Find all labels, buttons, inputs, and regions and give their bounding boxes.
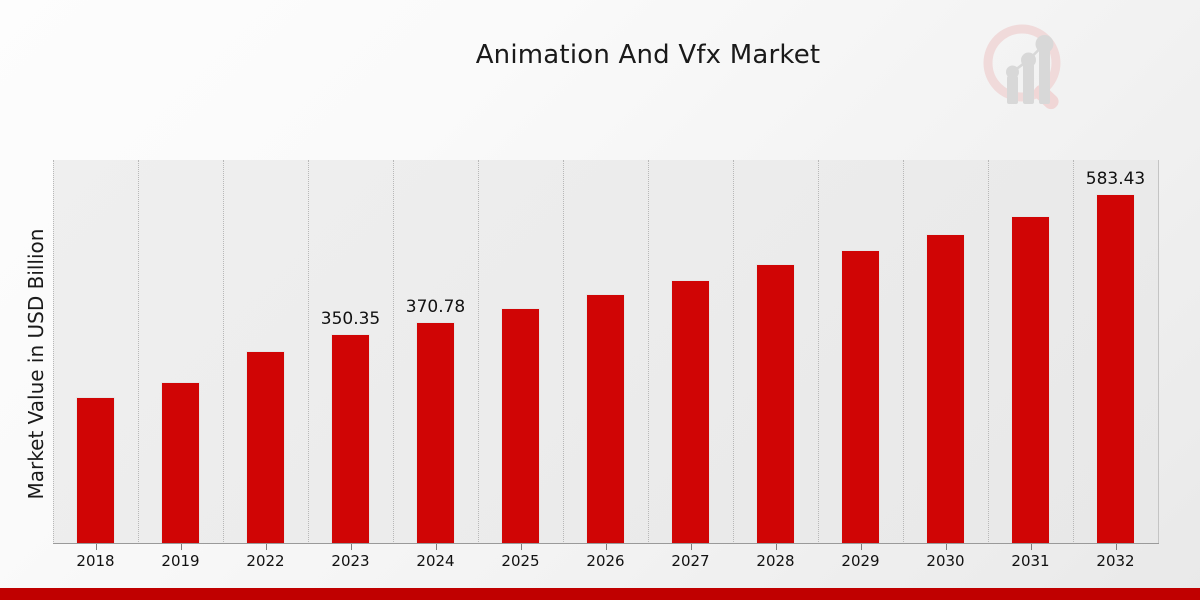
gridline [478, 160, 480, 544]
company-logo-watermark [975, 18, 1080, 123]
chart-figure: Animation And Vfx Market Market Value in… [0, 0, 1200, 600]
bar-2027[interactable] [671, 280, 710, 544]
gridline [53, 160, 55, 544]
gridline [563, 160, 565, 544]
x-tick-mark-2030 [946, 544, 947, 550]
x-tick-label-2022: 2022 [224, 552, 308, 570]
x-tick-label-2029: 2029 [819, 552, 903, 570]
bar-value-label-2024: 370.78 [391, 297, 481, 317]
x-tick-mark-2024 [436, 544, 437, 550]
x-tick-mark-2032 [1116, 544, 1117, 550]
gridline [733, 160, 735, 544]
x-tick-label-2028: 2028 [734, 552, 818, 570]
x-tick-mark-2028 [776, 544, 777, 550]
x-tick-label-2026: 2026 [564, 552, 648, 570]
bar-2032[interactable] [1096, 194, 1135, 544]
x-tick-mark-2031 [1031, 544, 1032, 550]
bar-2026[interactable] [586, 294, 625, 544]
x-tick-mark-2027 [691, 544, 692, 550]
y-axis-label: Market Value in USD Billion [24, 84, 48, 600]
bar-2030[interactable] [926, 234, 965, 544]
x-tick-label-2027: 2027 [649, 552, 733, 570]
bar-2031[interactable] [1011, 216, 1050, 544]
x-tick-mark-2022 [266, 544, 267, 550]
plot-area [53, 160, 1158, 544]
bar-2028[interactable] [756, 264, 795, 544]
gridline [223, 160, 225, 544]
gridline [818, 160, 820, 544]
x-tick-label-2024: 2024 [394, 552, 478, 570]
gridline [308, 160, 310, 544]
gridline [988, 160, 990, 544]
x-tick-mark-2018 [96, 544, 97, 550]
footer-accent-band [0, 588, 1200, 600]
x-tick-label-2023: 2023 [309, 552, 393, 570]
bar-2019[interactable] [161, 382, 200, 544]
bar-value-label-2023: 350.35 [306, 309, 396, 329]
bar-2018[interactable] [76, 397, 115, 544]
bar-2022[interactable] [246, 351, 285, 544]
gridline [1158, 160, 1160, 544]
bar-2029[interactable] [841, 250, 880, 544]
x-tick-mark-2029 [861, 544, 862, 550]
page-title: Animation And Vfx Market [0, 40, 1200, 70]
x-tick-label-2019: 2019 [139, 552, 223, 570]
gridline [393, 160, 395, 544]
gridline [648, 160, 650, 544]
bar-2025[interactable] [501, 308, 540, 544]
gridline [1073, 160, 1075, 544]
x-tick-label-2025: 2025 [479, 552, 563, 570]
x-tick-mark-2019 [181, 544, 182, 550]
x-tick-mark-2026 [606, 544, 607, 550]
x-tick-mark-2023 [351, 544, 352, 550]
x-tick-label-2032: 2032 [1074, 552, 1158, 570]
x-tick-label-2031: 2031 [989, 552, 1073, 570]
bar-value-label-2032: 583.43 [1071, 169, 1161, 189]
x-tick-label-2030: 2030 [904, 552, 988, 570]
bar-2023[interactable] [331, 334, 370, 544]
x-tick-label-2018: 2018 [54, 552, 138, 570]
bar-2024[interactable] [416, 322, 455, 544]
gridline [903, 160, 905, 544]
gridline [138, 160, 140, 544]
x-tick-mark-2025 [521, 544, 522, 550]
